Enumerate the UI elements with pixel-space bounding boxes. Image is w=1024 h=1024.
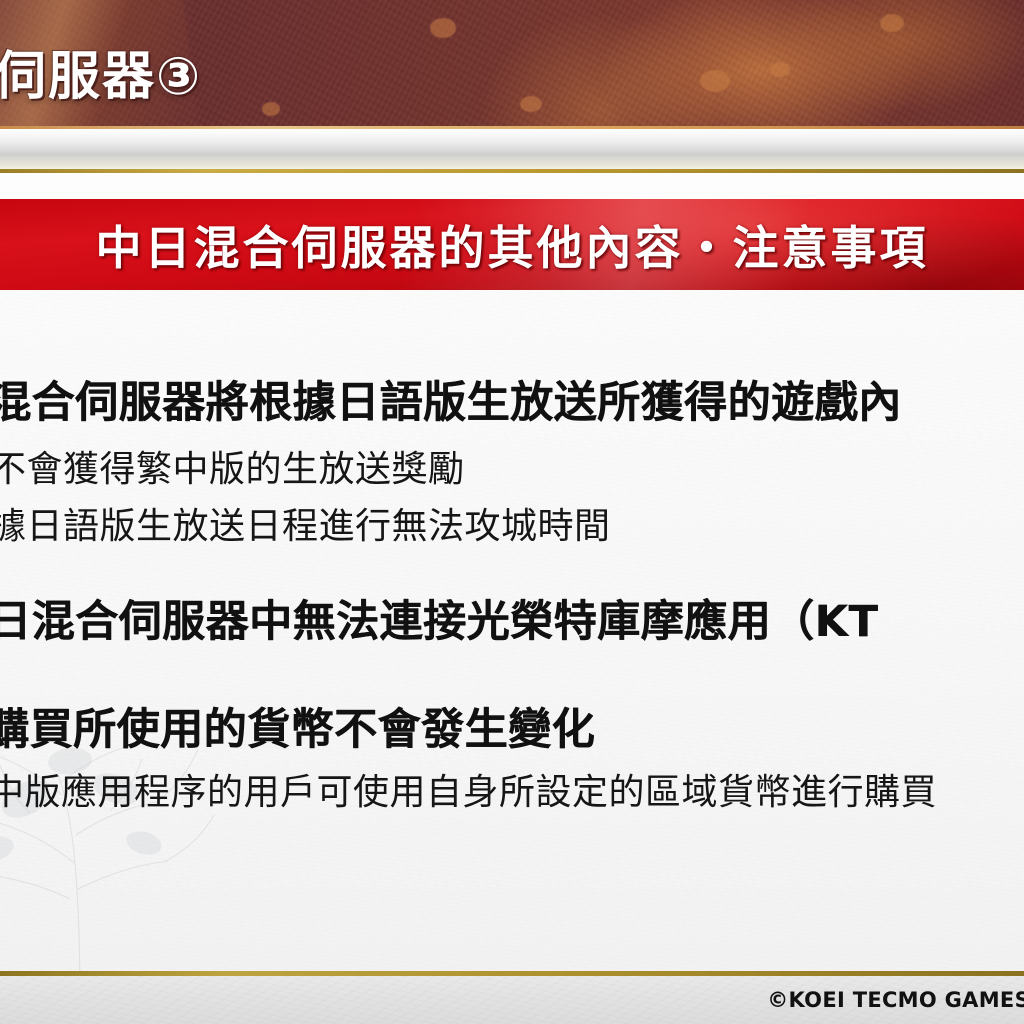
header-speck-icon	[770, 62, 790, 77]
content-area: 混合伺服器將根據日語版生放送所獲得的遊戲內 不會獲得繁中版的生放送獎勵 據日語版…	[0, 290, 1024, 973]
slide-root: 伺服器③ 中日混合伺服器的其他內容・注意事項	[0, 0, 1024, 1024]
body-line: 日混合伺服器中無法連接光榮特庫摩應用（KT	[0, 587, 878, 649]
body-line: 不會獲得繁中版的生放送獎勵	[0, 440, 465, 492]
section-banner-title: 中日混合伺服器的其他內容・注意事項	[0, 199, 1024, 290]
page-title: 伺服器③	[0, 34, 202, 109]
header-band: 伺服器③	[0, 0, 1024, 128]
header-speck-icon	[520, 96, 542, 112]
header-speck-icon	[262, 102, 280, 116]
footer-band: ©KOEI TECMO GAMES	[0, 976, 1024, 1024]
header-speck-icon	[880, 14, 904, 32]
body-line: 中版應用程序的用戶可使用自身所設定的區域貨幣進行購買	[0, 763, 937, 815]
body-line: 據日語版生放送日程進行無法攻城時間	[0, 497, 611, 549]
header-speck-icon	[700, 70, 730, 92]
header-bevel-strip	[0, 129, 1024, 170]
body-line: 混合伺服器將根據日語版生放送所獲得的遊戲內	[0, 368, 902, 430]
copyright-notice: ©KOEI TECMO GAMES	[767, 988, 1024, 1012]
section-banner: 中日混合伺服器的其他內容・注意事項	[0, 199, 1024, 290]
header-speck-icon	[430, 18, 456, 38]
bevel-gold-rule	[0, 169, 1024, 173]
body-line: 購買所使用的貨幣不會發生變化	[0, 695, 595, 757]
